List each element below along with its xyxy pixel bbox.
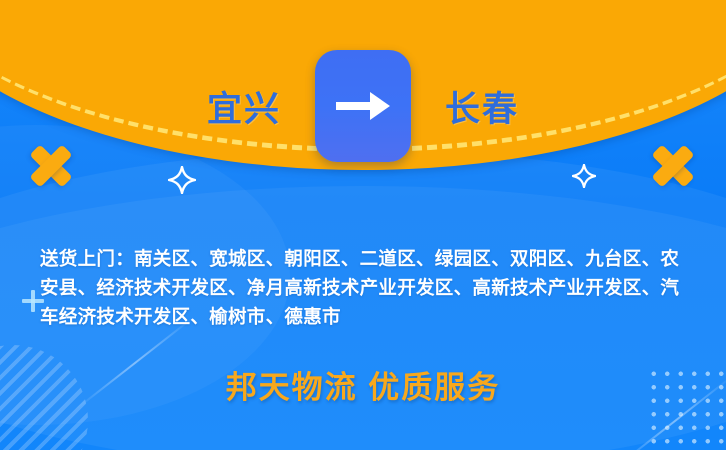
arrow-right-icon (334, 86, 392, 126)
company-tagline: 邦天物流 优质服务 (0, 362, 726, 407)
coverage-area-text: 送货上门：南关区、宽城区、朝阳区、二道区、绿园区、双阳区、九台区、农安县、经济技… (40, 244, 694, 331)
origin-city-label: 宜兴 (207, 92, 281, 127)
destination-city-label: 长春 (445, 92, 519, 127)
route-arrow-button[interactable] (315, 50, 411, 162)
route-header: 宜兴 长春 (0, 0, 726, 175)
logistics-route-banner: 宜兴 长春 送货上门：南关区、宽城区、朝阳区、二道区、绿园区、双阳区、九台区、农… (0, 0, 726, 450)
